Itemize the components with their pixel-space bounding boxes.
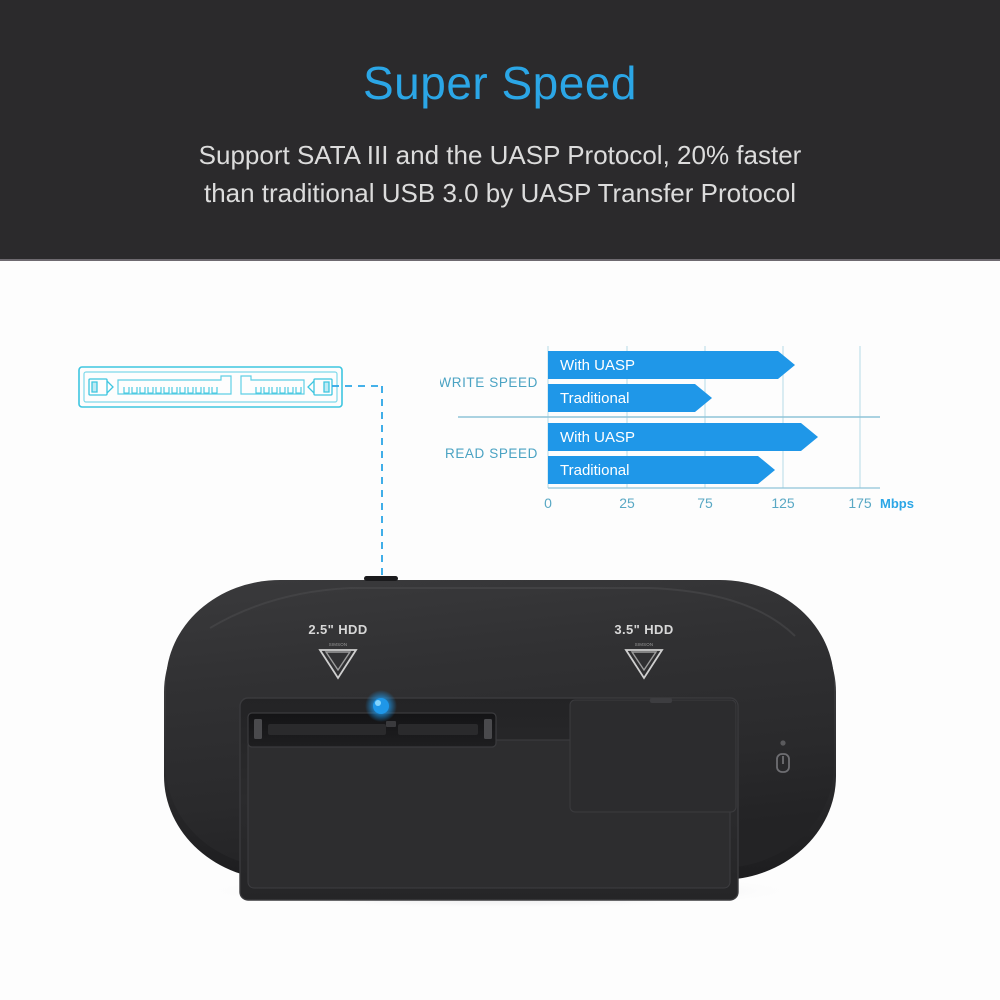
chart-tick-75: 75 (697, 495, 713, 511)
bar-label-read-traditional: Traditional (560, 462, 629, 479)
tray-notch (650, 698, 672, 703)
tray-right-block (570, 700, 736, 812)
sata-slot-channel-left (268, 724, 386, 735)
chart-category-label-write: WRITE SPEED (440, 375, 538, 390)
insertion-hotspot-highlight (375, 700, 381, 706)
product-marketing-image: Super Speed Support SATA III and the UAS… (0, 0, 1000, 1000)
chart-tick-25: 25 (619, 495, 635, 511)
subtitle-line-1: Support SATA III and the UASP Protocol, … (0, 136, 1000, 174)
sata-slot-key-left (254, 719, 262, 739)
label-3-5-hdd-text: 3.5" HDD (614, 622, 673, 637)
speed-comparison-chart: WRITE SPEED With UASP Traditional READ S… (440, 336, 920, 526)
chart-tick-125: 125 (771, 495, 795, 511)
insertion-hotspot (373, 698, 389, 714)
sata-connector-illustration (78, 366, 343, 408)
label-2-5-hdd-sub: SIMSON (329, 642, 348, 647)
header-banner: Super Speed Support SATA III and the UAS… (0, 0, 1000, 261)
label-3-5-hdd-sub: SIMSON (635, 642, 654, 647)
chart-unit-label: Mbps (880, 496, 914, 511)
page-subtitle: Support SATA III and the UASP Protocol, … (0, 136, 1000, 212)
bar-label-write-with-uasp: With UASP (560, 357, 635, 374)
subtitle-line-2: than traditional USB 3.0 by UASP Transfe… (0, 174, 1000, 212)
page-title: Super Speed (0, 54, 1000, 112)
sata-slot-key-right (484, 719, 492, 739)
bar-label-write-traditional: Traditional (560, 390, 629, 407)
led-indicator (780, 740, 785, 745)
sata-slot-channel-right (398, 724, 478, 735)
dock-top-port (364, 576, 398, 581)
bar-label-read-with-uasp: With UASP (560, 429, 635, 446)
chart-category-label-read: READ SPEED (445, 446, 538, 461)
chart-tick-0: 0 (544, 495, 552, 511)
sata-slot-divider (386, 721, 396, 727)
label-2-5-hdd-text: 2.5" HDD (308, 622, 367, 637)
chart-tick-175: 175 (848, 495, 872, 511)
docking-station-image: 2.5" HDD SIMSON 3.5" HDD SIMSON (150, 558, 850, 908)
